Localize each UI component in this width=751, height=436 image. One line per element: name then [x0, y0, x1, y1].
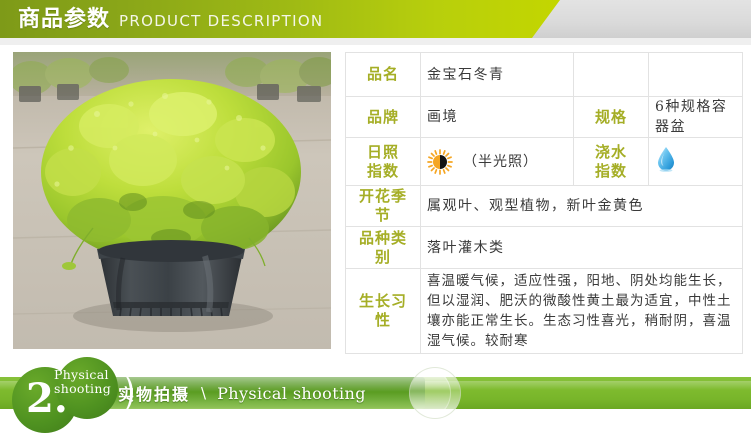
table-row: 生长习性 喜温暖气候，适应性强，阳地、阴处均能生长，但以湿润、肥沃的微酸性黄土最… — [346, 269, 743, 354]
section-banner-physical-shooting: 实物拍摄 \ Physical shooting 2. Physical sho… — [0, 355, 751, 436]
spec-value-sunlight: （半光照） — [421, 138, 574, 186]
table-row: 品种类别 落叶灌木类 — [346, 227, 743, 269]
section-number-badge: 2. Physical shooting — [4, 357, 132, 435]
table-row: 开花季节 属观叶、观型植物，新叶金黄色 — [346, 186, 743, 227]
half-sun-icon — [427, 149, 453, 175]
product-spec-table: 品名 金宝石冬青 品牌 画境 规格 6种规格容器盆 日照 指数 — [345, 52, 743, 354]
footer-title-en: Physical shooting — [217, 384, 366, 403]
water-drop-icon — [655, 145, 677, 173]
spec-label-sunlight: 日照 指数 — [346, 138, 421, 186]
spec-label-brand: 品牌 — [346, 97, 421, 138]
footer-pill-endcap — [409, 367, 461, 419]
footer-title-separator: \ — [201, 384, 206, 402]
page-title-cn: 商品参数 — [18, 3, 110, 37]
page-title: 商品参数 PRODUCT DESCRIPTION — [18, 3, 323, 37]
spec-label-growth-habit: 生长习性 — [346, 269, 421, 354]
table-row: 日照 指数 — [346, 138, 743, 186]
spec-value-bloom-season: 属观叶、观型植物，新叶金黄色 — [421, 186, 743, 227]
spec-label-name: 品名 — [346, 53, 421, 97]
spec-label-watering: 浇水 指数 — [574, 138, 649, 186]
spec-value-spec: 6种规格容器盆 — [649, 97, 743, 138]
spec-value-sunlight-note: （半光照） — [463, 152, 538, 172]
page-title-en: PRODUCT DESCRIPTION — [119, 4, 323, 38]
badge-swoosh-icon — [108, 371, 133, 415]
spec-label-empty-1 — [574, 53, 649, 97]
table-row: 品牌 画境 规格 6种规格容器盆 — [346, 97, 743, 138]
footer-title: 实物拍摄 \ Physical shooting — [118, 377, 366, 409]
table-row: 品名 金宝石冬青 — [346, 53, 743, 97]
spec-label-variety-type: 品种类别 — [346, 227, 421, 269]
plant-photo-illustration — [13, 52, 331, 349]
spec-label-watering-line2: 指数 — [580, 162, 642, 181]
spec-label-watering-line1: 浇水 — [580, 143, 642, 162]
spec-value-variety-type: 落叶灌木类 — [421, 227, 743, 269]
spec-value-name: 金宝石冬青 — [421, 53, 574, 97]
spec-value-growth-habit-cell: 喜温暖气候，适应性强，阳地、阴处均能生长，但以湿润、肥沃的微酸性黄土最为适宜，中… — [421, 269, 743, 354]
product-photo — [13, 52, 331, 349]
spec-label-spec: 规格 — [574, 97, 649, 138]
spec-value-empty-1 — [649, 53, 743, 97]
spec-label-bloom-season: 开花季节 — [346, 186, 421, 227]
spec-value-brand: 画境 — [421, 97, 574, 138]
spec-value-growth-habit: 喜温暖气候，适应性强，阳地、阴处均能生长，但以湿润、肥沃的微酸性黄土最为适宜，中… — [427, 269, 736, 353]
header-underline — [0, 38, 751, 45]
main-content: 品名 金宝石冬青 品牌 画境 规格 6种规格容器盆 日照 指数 — [0, 45, 751, 355]
spec-value-watering — [649, 138, 743, 186]
spec-label-sunlight-line2: 指数 — [352, 162, 414, 181]
page-header: 商品参数 PRODUCT DESCRIPTION — [0, 0, 751, 45]
spec-label-sunlight-line1: 日照 — [352, 143, 414, 162]
